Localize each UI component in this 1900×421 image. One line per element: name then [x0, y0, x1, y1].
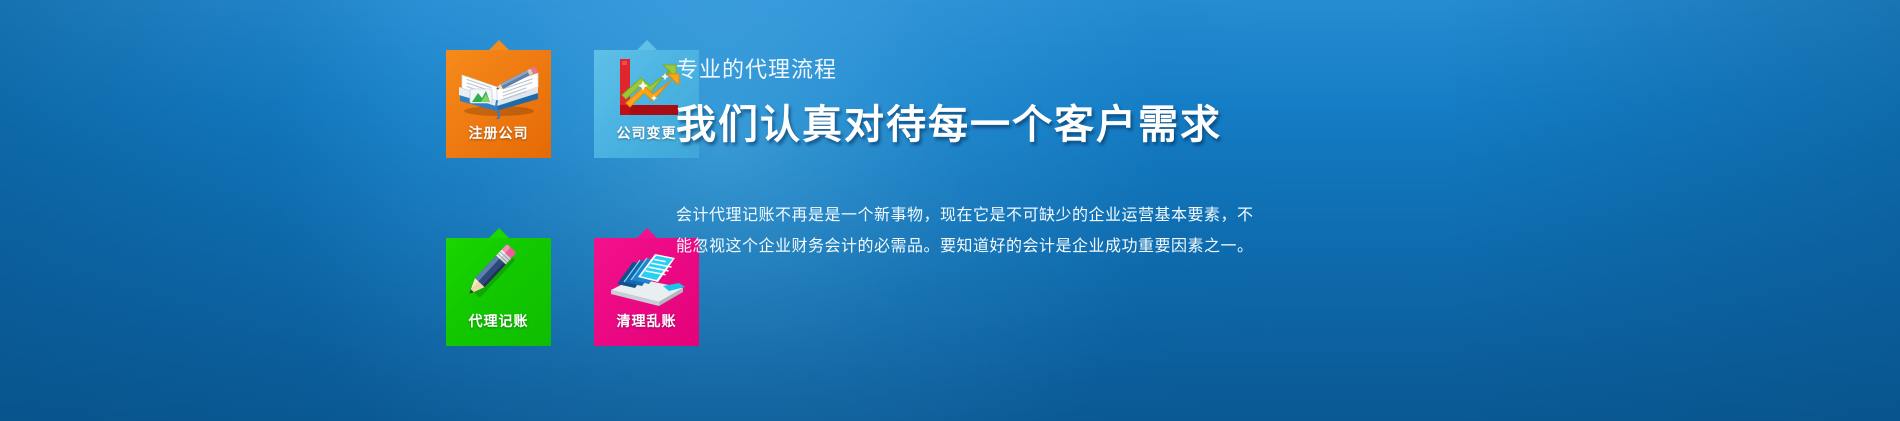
banner-paragraph-line-2: 能忽视这个企业财务会计的必需品。要知道好的会计是企业成功重要因素之一。 [676, 231, 1236, 262]
pencil-icon [446, 238, 551, 313]
banner-content: 注册公司 [0, 0, 1900, 421]
banner-copy: 专业的代理流程 我们认真对待每一个客户需求 会计代理记账不再是是一个新事物，现在… [676, 0, 1776, 421]
banner-headline: 我们认真对待每一个客户需求 [676, 100, 1222, 150]
open-book-pencil-icon [446, 50, 551, 125]
banner-paragraph-line-1: 会计代理记账不再是是一个新事物，现在它是不可缺少的企业运营基本要素，不 [676, 200, 1236, 231]
promo-banner: 注册公司 [0, 0, 1900, 421]
service-tile-label: 注册公司 [446, 125, 551, 141]
service-tile-label: 代理记账 [446, 313, 551, 329]
banner-paragraph: 会计代理记账不再是是一个新事物，现在它是不可缺少的企业运营基本要素，不 能忽视这… [676, 200, 1236, 262]
banner-eyebrow: 专业的代理流程 [676, 56, 837, 84]
service-tile-register-company[interactable]: 注册公司 [446, 50, 551, 158]
service-tile-agency-bookkeeping[interactable]: 代理记账 [446, 238, 551, 346]
